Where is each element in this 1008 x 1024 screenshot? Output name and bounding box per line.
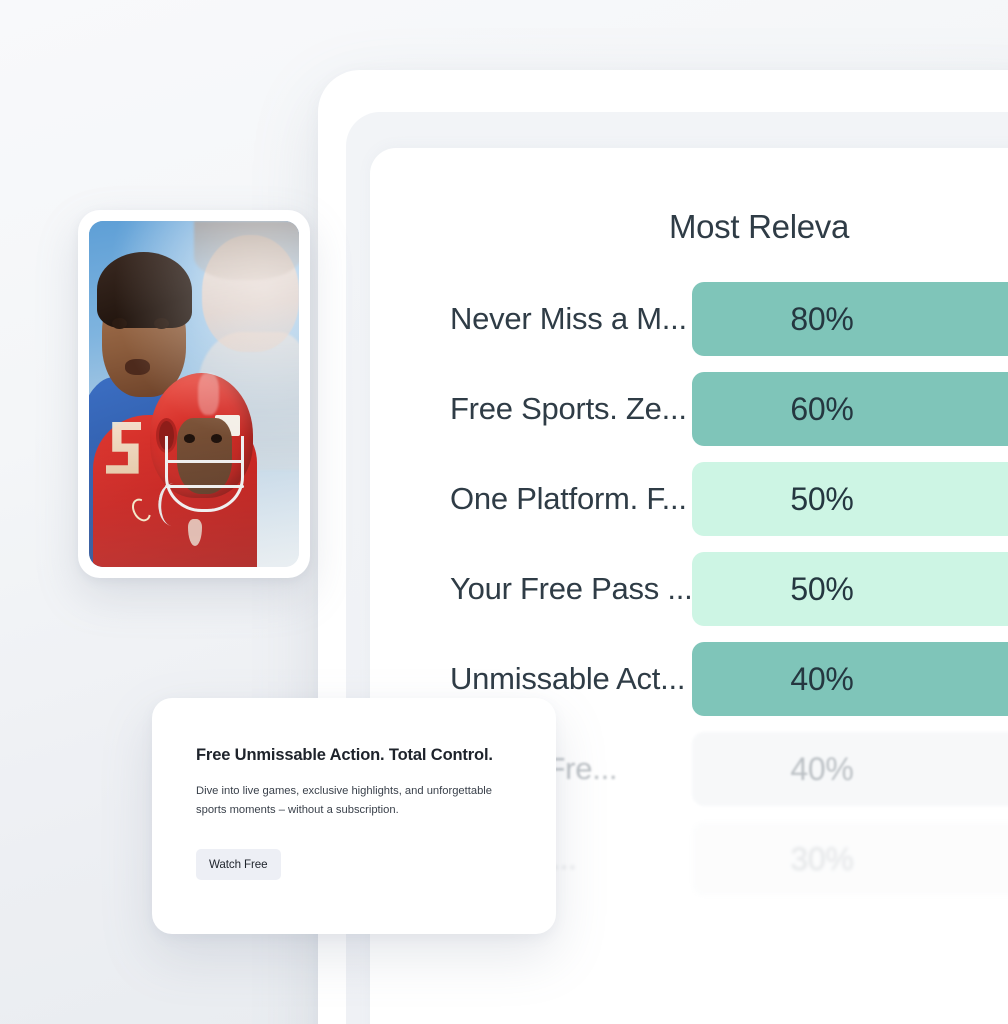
row-bar: 40%	[692, 642, 1008, 716]
photo-helmet-highlight	[198, 373, 219, 415]
chart-title: Most Releva	[370, 208, 1008, 246]
promo-description: Dive into live games, exclusive highligh…	[196, 782, 512, 818]
row-value: 50%	[790, 481, 853, 518]
photo-athlete-left-eye-left	[112, 318, 127, 329]
promo-title: Free Unmissable Action. Total Control.	[196, 744, 496, 767]
photo-athlete-left-eye-right	[154, 318, 169, 329]
row-label: Your Free Pass ...	[370, 571, 692, 607]
promo-card: Free Unmissable Action. Total Control. D…	[152, 698, 556, 934]
row-label: Free Sports. Ze...	[370, 391, 692, 427]
row-bar: 30%	[692, 822, 1008, 896]
watch-free-button[interactable]: Watch Free	[196, 849, 281, 880]
chart-row[interactable]: Never Miss a M... 80%	[370, 274, 1008, 364]
chart-row[interactable]: Your Free Pass ... 50%	[370, 544, 1008, 634]
row-bar: 50%	[692, 552, 1008, 626]
row-value: 50%	[790, 571, 853, 608]
row-value: 60%	[790, 391, 853, 428]
sports-collage-image	[89, 221, 299, 567]
row-bar: 40%	[692, 732, 1008, 806]
row-label: Unmissable Act...	[370, 661, 692, 697]
chart-row[interactable]: One Platform. F... 50%	[370, 454, 1008, 544]
row-value: 40%	[790, 751, 853, 788]
row-value: 30%	[790, 841, 853, 878]
hero-stage: Most Releva Never Miss a M... 80% Free S…	[0, 0, 1008, 1024]
row-value: 40%	[790, 661, 853, 698]
row-value: 80%	[790, 301, 853, 338]
row-bar: 50%	[692, 462, 1008, 536]
row-bar: 60%	[692, 372, 1008, 446]
photo-athlete-left-hair	[97, 252, 192, 328]
photo-athlete-woman-hair	[194, 221, 299, 280]
row-bar: 80%	[692, 282, 1008, 356]
photo-card[interactable]	[78, 210, 310, 578]
chart-row[interactable]: Free Sports. Ze... 60%	[370, 364, 1008, 454]
photo-athlete-left-mouth	[125, 359, 150, 375]
row-label: Never Miss a M...	[370, 301, 692, 337]
row-label: One Platform. F...	[370, 481, 692, 517]
